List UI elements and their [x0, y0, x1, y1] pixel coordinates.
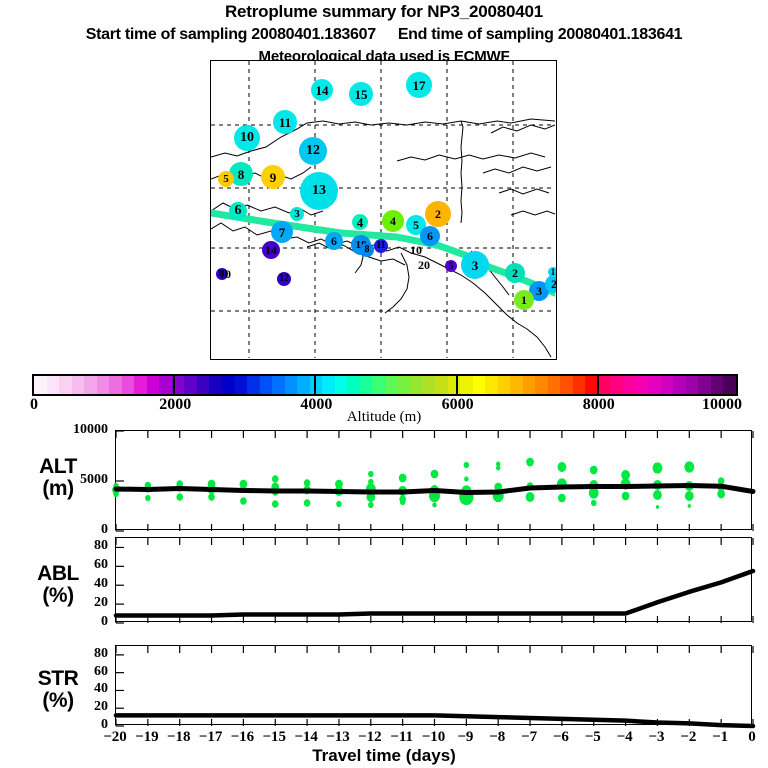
abl-panel [115, 537, 752, 622]
colorbar-swatch [47, 376, 60, 394]
altitude-scatter-dot [558, 462, 567, 472]
altitude-scatter-dot [240, 497, 247, 504]
sampling-time-line: Start time of sampling 20080401.183607En… [0, 26, 768, 44]
altitude-scatter-dot [591, 500, 597, 506]
colorbar-swatch [109, 376, 122, 394]
map-day-marker: 4 [382, 210, 404, 232]
colorbar-swatch [636, 376, 649, 394]
colorbar-swatch [184, 376, 197, 394]
abl-line [116, 571, 753, 615]
colorbar-swatch [72, 376, 85, 394]
map-day-marker: 12 [277, 272, 291, 286]
map-day-marker: 2 [425, 201, 451, 227]
altitude-scatter-dot [432, 503, 436, 508]
map-day-marker: 11 [273, 110, 297, 134]
altitude-scatter-dot [431, 470, 439, 479]
map-day-marker: 2 [505, 263, 525, 283]
colorbar-swatch [648, 376, 661, 394]
map-day-marker: 14 [311, 79, 333, 101]
colorbar-swatch [34, 376, 47, 394]
colorbar-swatch [209, 376, 222, 394]
map-day-marker: 11 [374, 239, 388, 253]
start-time-label: Start time of sampling 20080401.183607 [86, 26, 376, 43]
map-grid-label: 10 [410, 243, 422, 258]
abl-y-tick: 0 [48, 614, 108, 630]
altitude-scatter-dot [464, 477, 468, 482]
str-panel [115, 645, 752, 725]
altitude-scatter-dot [113, 491, 119, 497]
colorbar-swatch [485, 376, 498, 394]
colorbar-swatch [222, 376, 235, 394]
altitude-colorbar [32, 374, 738, 396]
colorbar-swatch [147, 376, 160, 394]
str-y-tick: 20 [48, 699, 108, 715]
map-day-marker: 4 [352, 214, 368, 230]
colorbar-swatch [673, 376, 686, 394]
colorbar-divider [173, 374, 175, 396]
colorbar-swatch [560, 376, 573, 394]
map-day-marker: 15 [349, 82, 373, 106]
altitude-scatter-dot [589, 487, 599, 498]
colorbar-swatch [435, 376, 448, 394]
map-day-marker: 2 [545, 275, 557, 293]
colorbar-swatch [235, 376, 248, 394]
colorbar-divider [456, 374, 458, 396]
colorbar-swatch [422, 376, 435, 394]
colorbar-swatch [97, 376, 110, 394]
map-day-marker: 8 [360, 243, 374, 257]
colorbar-swatch [410, 376, 423, 394]
colorbar-swatch [723, 376, 736, 394]
map-day-marker: 3 [290, 207, 304, 221]
map-day-marker: 6 [420, 226, 440, 246]
abl-y-tick: 80 [48, 538, 108, 554]
colorbar-swatch [59, 376, 72, 394]
altitude-panel [115, 430, 752, 530]
map-grid [211, 61, 555, 358]
colorbar-swatch [498, 376, 511, 394]
alt-y-tick: 5000 [40, 472, 108, 488]
altitude-scatter-dot [176, 493, 183, 500]
colorbar-swatch [523, 376, 536, 394]
colorbar-swatch [285, 376, 298, 394]
altitude-scatter-dot [717, 490, 725, 499]
altitude-scatter-dot [718, 477, 725, 484]
colorbar-swatch [347, 376, 360, 394]
colorbar-swatch [385, 376, 398, 394]
map-day-marker: 5 [445, 260, 457, 272]
map-day-marker: 3 [461, 251, 489, 279]
altitude-scatter-dot [685, 491, 694, 501]
altitude-scatter-dot [272, 500, 279, 507]
colorbar-swatch [711, 376, 724, 394]
colorbar-swatch [473, 376, 486, 394]
colorbar-swatch [159, 376, 172, 394]
colorbar-swatch [686, 376, 699, 394]
abl-y-tick: 40 [48, 576, 108, 592]
altitude-scatter-dot [145, 495, 151, 501]
altitude-scatter-dot [464, 462, 470, 468]
altitude-scatter-dot [208, 493, 215, 500]
map-day-marker: 6 [229, 202, 247, 220]
x-axis-title: Travel time (days) [0, 746, 768, 766]
altitude-scatter-dot [304, 499, 311, 506]
altitude-scatter-dot [272, 475, 279, 482]
altitude-scatter-dot [653, 462, 663, 473]
colorbar-swatch [460, 376, 473, 394]
altitude-scatter-dot [526, 492, 535, 502]
altitude-scatter-dot [558, 494, 566, 503]
page-title: Retroplume summary for NP3_20080401 [0, 2, 768, 22]
altitude-scatter-dot [656, 505, 659, 509]
colorbar-swatch [448, 376, 461, 394]
abl-plot [116, 538, 753, 623]
altitude-scatter-dot [496, 466, 500, 471]
colorbar-swatch [84, 376, 97, 394]
abl-y-tick: 60 [48, 557, 108, 573]
colorbar-swatch [260, 376, 273, 394]
colorbar-swatch [297, 376, 310, 394]
colorbar-swatch [272, 376, 285, 394]
altitude-scatter-dot [688, 504, 691, 508]
colorbar-swatch [573, 376, 586, 394]
altitude-plot [116, 431, 753, 531]
str-y-tick: 80 [48, 646, 108, 662]
map-day-marker: 5 [218, 171, 234, 187]
map-day-marker: 1 [548, 267, 557, 277]
map-day-marker: 7 [271, 221, 293, 243]
altitude-scatter-dot [368, 502, 374, 508]
colorbar-swatch [598, 376, 611, 394]
retroplume-map: 1715141110128591363445267146188111012532… [210, 60, 557, 360]
colorbar-swatch [698, 376, 711, 394]
colorbar-swatch [197, 376, 210, 394]
colorbar-divider [314, 374, 316, 396]
colorbar-divider [597, 374, 599, 396]
map-day-marker: 6 [325, 232, 343, 250]
map-graphics [211, 61, 555, 358]
colorbar-swatch [610, 376, 623, 394]
altitude-scatter-dot [400, 499, 406, 505]
colorbar-swatch [360, 376, 373, 394]
travel-time-tick: 0 [732, 729, 768, 746]
map-day-marker: 14 [262, 241, 280, 259]
map-day-marker: 17 [406, 72, 432, 98]
str-y-tick: 60 [48, 664, 108, 680]
altitude-scatter-dot [622, 492, 630, 501]
colorbar-swatch [623, 376, 636, 394]
colorbar-swatch [134, 376, 147, 394]
alt-y-tick: 0 [40, 522, 108, 538]
altitude-scatter-dot [526, 458, 534, 467]
map-day-marker: 13 [300, 172, 338, 210]
colorbar-swatch [372, 376, 385, 394]
colorbar-swatch [535, 376, 548, 394]
colorbar-swatch [548, 376, 561, 394]
map-day-marker: 9 [261, 165, 285, 189]
colorbar-swatch [247, 376, 260, 394]
altitude-scatter-dot [653, 490, 662, 500]
colorbar-swatch [510, 376, 523, 394]
colorbar-swatch [397, 376, 410, 394]
altitude-scatter-dot [590, 466, 598, 475]
map-day-marker: 12 [299, 137, 327, 165]
end-time-label: End time of sampling 20080401.183641 [398, 26, 682, 43]
map-grid-label: 10 [219, 267, 231, 282]
colorbar-swatch [335, 376, 348, 394]
map-day-marker: 1 [514, 290, 534, 310]
altitude-scatter-dot [336, 501, 342, 507]
map-grid-label: 20 [418, 258, 430, 273]
altitude-scatter-dot [304, 479, 311, 486]
colorbar-swatch [661, 376, 674, 394]
altitude-scatter-dot [399, 474, 407, 483]
map-day-marker: 10 [234, 125, 260, 151]
altitude-scatter-dot [368, 471, 374, 477]
str-plot [116, 646, 753, 726]
altitude-scatter-dot [684, 461, 694, 472]
abl-y-tick: 20 [48, 595, 108, 611]
colorbar-title: Altitude (m) [0, 409, 768, 426]
alt-y-tick: 10000 [40, 422, 108, 438]
str-y-tick: 40 [48, 681, 108, 697]
colorbar-swatch [322, 376, 335, 394]
colorbar-swatch [122, 376, 135, 394]
